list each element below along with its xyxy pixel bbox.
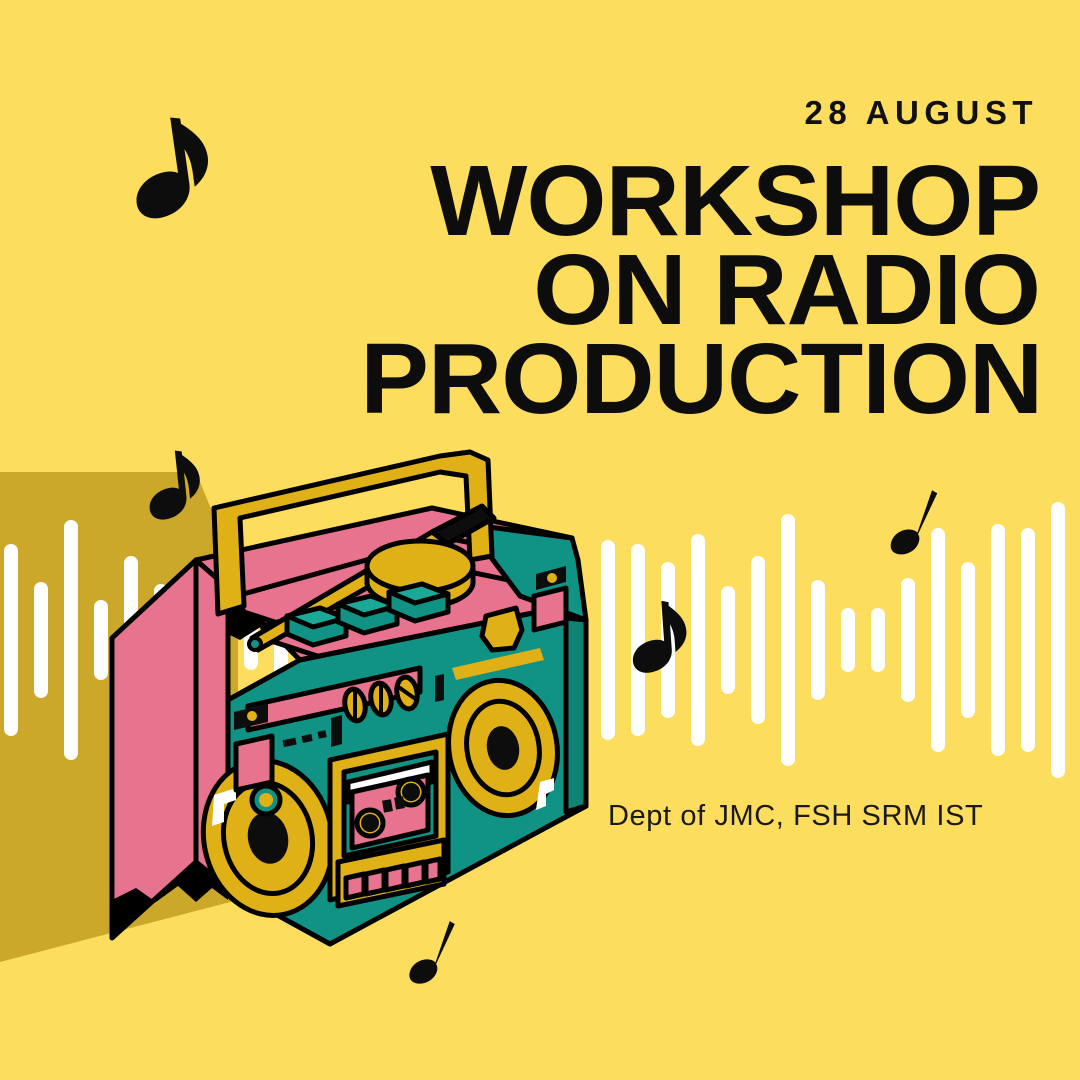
page-title: WORKSHOP ON RADIO PRODUCTION bbox=[360, 157, 1040, 424]
headline-line-1: WORKSHOP bbox=[360, 157, 1040, 246]
headline-line-3: PRODUCTION bbox=[360, 335, 1040, 424]
headline-block: 28 AUGUST WORKSHOP ON RADIO PRODUCTION bbox=[380, 96, 1040, 424]
text-layer: 28 AUGUST WORKSHOP ON RADIO PRODUCTION D… bbox=[0, 0, 1080, 1080]
organizer-credit: Dept of JMC, FSH SRM IST bbox=[608, 800, 983, 833]
headline-line-2: ON RADIO bbox=[360, 246, 1040, 335]
poster-canvas: 28 AUGUST WORKSHOP ON RADIO PRODUCTION D… bbox=[0, 0, 1080, 1080]
event-date: 28 AUGUST bbox=[380, 96, 1040, 129]
